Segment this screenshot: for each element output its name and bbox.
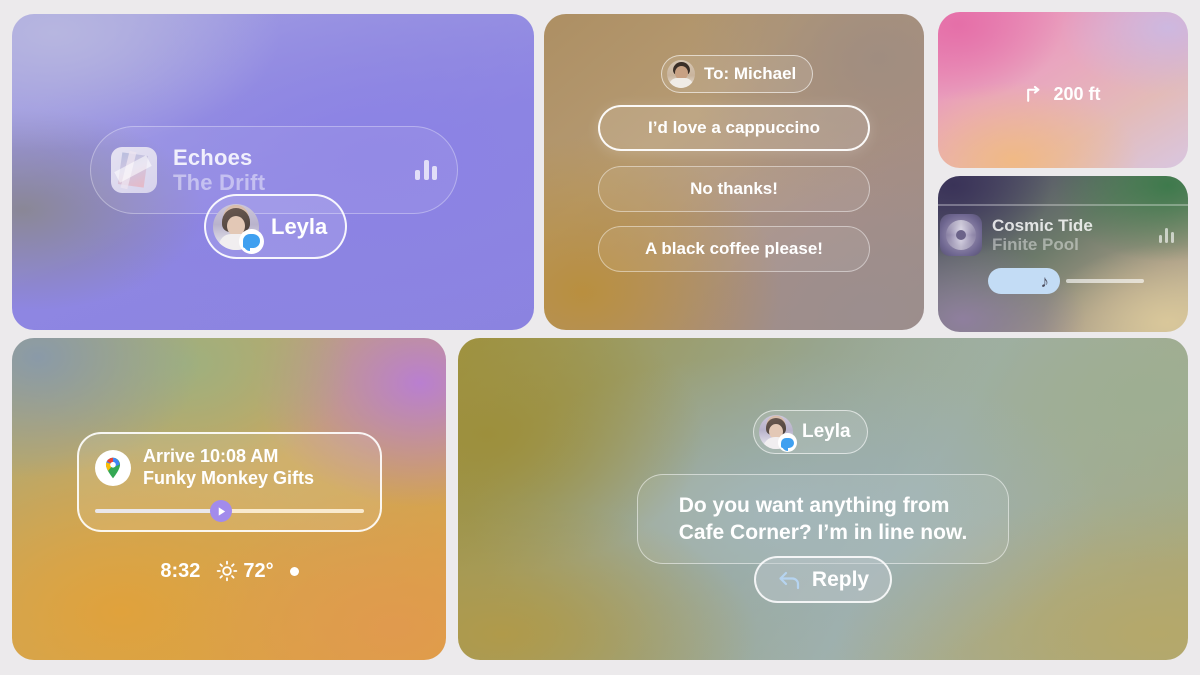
album-art-spiral-icon bbox=[940, 214, 982, 256]
status-dot-icon bbox=[290, 567, 299, 576]
sender-name: Leyla bbox=[802, 421, 851, 443]
sender-pill-leyla[interactable]: Leyla bbox=[753, 410, 868, 454]
turn-distance: 200 ft bbox=[1053, 84, 1100, 105]
message-line-1: Do you want anything from bbox=[679, 492, 968, 519]
equalizer-bars-icon bbox=[1159, 228, 1175, 243]
recipient-label: To: Michael bbox=[704, 64, 796, 84]
recipient-pill[interactable]: To: Michael bbox=[661, 55, 813, 93]
album-art-abstract-icon bbox=[111, 147, 157, 193]
cosmic-now-playing[interactable]: Cosmic Tide Finite Pool bbox=[938, 205, 1188, 265]
progress-remaining bbox=[221, 509, 364, 513]
suggestion-option-1[interactable]: I’d love a cappuccino bbox=[598, 105, 870, 151]
turn-instruction-row: 200 ft bbox=[938, 78, 1188, 110]
message-text: Do you want anything from Cafe Corner? I… bbox=[679, 492, 968, 547]
reply-arrow-icon bbox=[777, 569, 802, 591]
music-and-caller-card[interactable]: Echoes The Drift Leyla bbox=[12, 14, 534, 330]
track-artist: The Drift bbox=[173, 170, 265, 195]
cosmic-track-artist: Finite Pool bbox=[992, 235, 1093, 254]
music-note-icon: ♪ bbox=[1041, 273, 1050, 290]
eta-header: Arrive 10:08 AM Funky Monkey Gifts bbox=[95, 446, 364, 489]
status-row: 8:32 72° bbox=[77, 555, 382, 587]
track-title: Echoes bbox=[173, 145, 265, 170]
route-progress[interactable] bbox=[95, 503, 364, 519]
equalizer-bars-icon bbox=[415, 160, 437, 180]
cosmic-track-title: Cosmic Tide bbox=[992, 216, 1093, 235]
suggestion-option-2[interactable]: No thanks! bbox=[598, 166, 870, 212]
status-time: 8:32 bbox=[160, 560, 200, 583]
eta-text: Arrive 10:08 AM Funky Monkey Gifts bbox=[143, 446, 314, 489]
caller-pill-leyla[interactable]: Leyla bbox=[204, 194, 347, 259]
progress-elapsed bbox=[95, 509, 221, 513]
reply-label: Reply bbox=[812, 568, 869, 592]
sun-icon bbox=[216, 560, 238, 582]
message-bubble-badge-icon bbox=[239, 229, 264, 254]
navigation-arrow-icon[interactable] bbox=[210, 500, 232, 522]
caller-name: Leyla bbox=[271, 214, 327, 240]
status-temperature: 72° bbox=[243, 560, 273, 583]
avatar-photo-michael-icon bbox=[667, 60, 695, 88]
message-bubble-badge-icon bbox=[778, 433, 797, 452]
eta-time: Arrive 10:08 AM bbox=[143, 446, 314, 468]
avatar bbox=[759, 415, 793, 449]
cosmic-meta: Cosmic Tide Finite Pool bbox=[992, 216, 1093, 254]
avatar bbox=[213, 204, 259, 250]
eta-panel[interactable]: Arrive 10:08 AM Funky Monkey Gifts bbox=[77, 432, 382, 532]
eta-destination: Funky Monkey Gifts bbox=[143, 468, 314, 490]
slider-thumb[interactable]: ♪ bbox=[988, 268, 1060, 294]
slider-track[interactable] bbox=[1066, 279, 1144, 283]
reply-button[interactable]: Reply bbox=[754, 556, 892, 603]
volume-slider[interactable]: ♪ bbox=[988, 268, 1144, 294]
track-meta: Echoes The Drift bbox=[173, 145, 265, 196]
suggestion-option-3[interactable]: A black coffee please! bbox=[598, 226, 870, 272]
message-line-2: Cafe Corner? I’m in line now. bbox=[679, 519, 968, 546]
turn-right-arrow-icon bbox=[1025, 85, 1044, 104]
message-bubble[interactable]: Do you want anything from Cafe Corner? I… bbox=[637, 474, 1009, 564]
google-maps-pin-icon bbox=[95, 450, 131, 486]
screen: Echoes The Drift Leyla To: Michael I’d l… bbox=[0, 0, 1200, 675]
